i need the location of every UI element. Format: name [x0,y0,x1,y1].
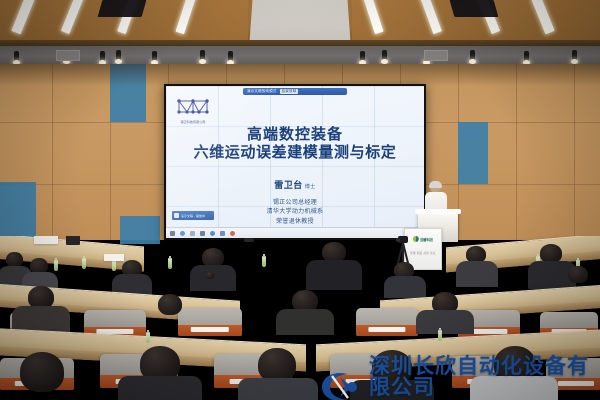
track-spotlight [572,50,577,61]
slideshow-toolbar[interactable]: 演示文稿放映模式 结束放映 [243,88,347,95]
company-watermark: 深圳长欣自动化设备有限公司 SHENZHEN CHANGXIN AUTOMATI… [318,356,600,400]
track-spotlight [524,51,529,62]
audience-head [20,352,64,392]
track-spotlight [200,50,205,61]
slide-mini-window[interactable]: 演示文稿 - 播放中 [172,211,214,220]
audience-torso [118,376,202,400]
ceiling-air-grille [450,0,499,17]
water-bottle [168,258,172,269]
seat-chair [178,308,242,336]
water-bottle [82,258,86,269]
slideshow-app-label: 演示文稿放映模式 [247,89,277,94]
track-spotlight [470,50,475,61]
water-bottle [146,332,150,343]
chair-base [178,325,242,336]
audience-torso [456,261,498,287]
audience-torso [384,276,426,298]
chair-base [356,325,418,336]
lectern-top [415,209,461,214]
changxin-cx-logo-icon [318,368,362,400]
start-icon[interactable] [170,231,175,236]
mini-window-label: 演示文稿 - 播放中 [181,214,205,218]
audience-head [6,252,23,267]
audience-head [258,348,296,382]
lighting-track [0,46,600,66]
watermark-text-block: 深圳长欣自动化设备有限公司 SHENZHEN CHANGXIN AUTOMATI… [369,356,600,400]
ceiling-vent [424,50,448,61]
end-slideshow-button[interactable]: 结束放映 [280,89,299,94]
audience-torso [238,378,318,400]
slide-title-line-1: 高端数控装备 [166,126,424,144]
company-logo: 锡正科技有限公司 [173,96,213,126]
network-graph-icon [173,96,213,120]
audience-torso [416,310,474,334]
equipment-box [66,236,80,245]
projection-screen-frame: 演示文稿放映模式 结束放映 锡正 [164,84,426,240]
water-bottle [54,260,58,271]
seat-chair [356,308,418,336]
browser-icon[interactable] [180,231,185,236]
presenter-hair [429,181,442,188]
slide-title-line-2: 六维运动误差建模量测与标定 [166,144,424,162]
mail-icon[interactable] [210,231,215,236]
audience-head [568,266,588,283]
lecture-hall-photo: 演示文稿放映模式 结束放映 锡正 [0,0,600,400]
wall-accent-panel [0,182,36,244]
audience-head [206,272,214,279]
slide-speaker-name: 雷卫台博士 [166,178,424,191]
audience-torso [276,309,334,335]
seat-number-label [368,327,405,332]
cx-mark-svg [318,368,362,400]
track-spotlight [360,51,365,62]
search-icon[interactable] [190,231,195,236]
seat-number-label [470,329,507,334]
water-bottle [438,330,442,341]
audience-head [322,242,346,262]
track-spotlight [228,51,233,62]
wall-accent-panel [458,122,488,184]
wall-top-shadow [0,64,600,86]
seat-number-label [191,327,229,332]
slide-title-block: 高端数控装备 六维运动误差建模量测与标定 [166,126,424,161]
water-bottle [112,260,116,271]
track-spotlight [116,50,121,61]
track-spotlight [14,51,19,62]
audience-head [158,294,182,315]
paper-stack [34,236,58,244]
desk-microphone [244,238,254,242]
mini-window-icon [174,213,179,218]
credential-line: 锡正公司总经理 [166,198,424,207]
audience-torso [12,306,70,332]
water-bottle [262,256,266,267]
speaker-name-text: 雷卫台 [274,181,303,191]
app-icon[interactable] [220,231,225,236]
presentation-slide[interactable]: 演示文稿放映模式 结束放映 锡正 [166,86,424,238]
media-icon[interactable] [230,231,235,236]
folder-icon[interactable] [200,231,205,236]
ceiling-vent [56,50,80,61]
ceiling-air-grille [98,0,147,17]
company-logo-caption: 锡正科技有限公司 [173,120,213,124]
track-spotlight [152,51,157,62]
watermark-chinese-name: 深圳长欣自动化设备有限公司 [369,356,600,398]
track-spotlight [100,51,105,62]
speaker-degree-text: 博士 [305,184,316,190]
paper-sheet [104,254,124,261]
audience-torso [306,260,362,290]
track-spotlight [382,50,387,61]
